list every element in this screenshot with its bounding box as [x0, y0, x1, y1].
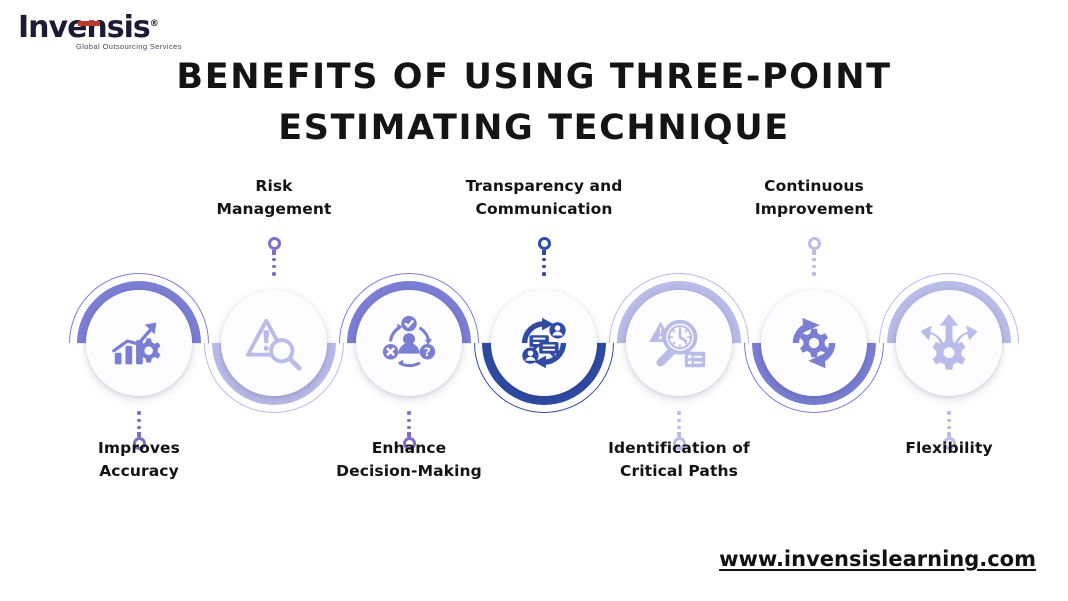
connector-dot [407, 426, 410, 429]
benefit-label-line1-1: Improves [19, 437, 259, 460]
benefit-label-line1-4: Transparency and [424, 175, 664, 198]
benefit-node-6[interactable] [744, 273, 884, 413]
connector-dot [137, 419, 140, 422]
benefit-label-7: Flexibility [829, 437, 1068, 460]
registered-mark: ® [150, 19, 158, 29]
clock-magnifier-checklist-icon [626, 290, 732, 396]
benefit-label-1: ImprovesAccuracy [19, 437, 259, 483]
benefit-node-5[interactable] [609, 273, 749, 413]
connector-dot [677, 426, 680, 429]
warning-magnifier-icon [221, 290, 327, 396]
benefit-node-3[interactable]: ? [339, 273, 479, 413]
connector-dot [272, 258, 275, 261]
benefit-pin-6 [808, 237, 821, 250]
connector-dot [812, 265, 815, 268]
connector-dot [272, 265, 275, 268]
benefit-node-1[interactable] [69, 273, 209, 413]
benefit-label-4: Transparency andCommunication [424, 175, 664, 221]
brand-logo: Invensis® Global Outsourcing Services [18, 8, 198, 52]
brand-wordmark: Invensis® [18, 8, 158, 44]
benefit-label-line2-3: Decision-Making [289, 460, 529, 483]
benefit-pin-2 [268, 237, 281, 250]
connector-dot [677, 419, 680, 422]
benefit-label-line2-1: Accuracy [19, 460, 259, 483]
benefit-label-line1-5: Identification of [559, 437, 799, 460]
benefit-label-5: Identification ofCritical Paths [559, 437, 799, 483]
growth-chart-gear-icon [86, 290, 192, 396]
infographic-page: Invensis® Global Outsourcing Services BE… [0, 0, 1068, 601]
benefit-label-line1-6: Continuous [694, 175, 934, 198]
gear-recycle-icon [761, 290, 867, 396]
benefit-label-line1-2: Risk [154, 175, 394, 198]
benefit-label-3: EnhanceDecision-Making [289, 437, 529, 483]
benefit-label-line2-2: Management [154, 198, 394, 221]
connector-dot [137, 426, 140, 429]
gear-multi-arrows-icon [896, 290, 1002, 396]
connector-dot [542, 258, 545, 261]
benefit-node-2[interactable] [204, 273, 344, 413]
benefit-label-line1-7: Flexibility [829, 437, 1068, 460]
svg-text:?: ? [424, 345, 431, 359]
decision-person-arrows-icon: ? [356, 290, 462, 396]
brand-name: Invensis [18, 10, 150, 45]
connector-dot [542, 265, 545, 268]
connector-dot [812, 258, 815, 261]
communication-cycle-icon [491, 290, 597, 396]
benefit-node-4[interactable] [474, 273, 614, 413]
benefit-label-6: ContinuousImprovement [694, 175, 934, 221]
logo-accent-bar [78, 21, 100, 26]
benefit-pin-4 [538, 237, 551, 250]
benefit-node-7[interactable] [879, 273, 1019, 413]
benefit-label-line1-3: Enhance [289, 437, 529, 460]
page-title-line-1: BENEFITS OF USING THREE-POINT [0, 52, 1068, 103]
benefits-row: ImprovesAccuracy RiskManagement ? Enhanc… [0, 175, 1068, 475]
benefit-label-line2-4: Communication [424, 198, 664, 221]
benefit-label-line2-5: Critical Paths [559, 460, 799, 483]
benefit-label-2: RiskManagement [154, 175, 394, 221]
connector-dot [407, 419, 410, 422]
website-link[interactable]: www.invensislearning.com [719, 547, 1036, 571]
connector-dot [947, 419, 950, 422]
connector-dot [947, 426, 950, 429]
benefit-label-line2-6: Improvement [694, 198, 934, 221]
page-title-line-2: ESTIMATING TECHNIQUE [0, 103, 1068, 154]
page-title: BENEFITS OF USING THREE-POINT ESTIMATING… [0, 52, 1068, 154]
